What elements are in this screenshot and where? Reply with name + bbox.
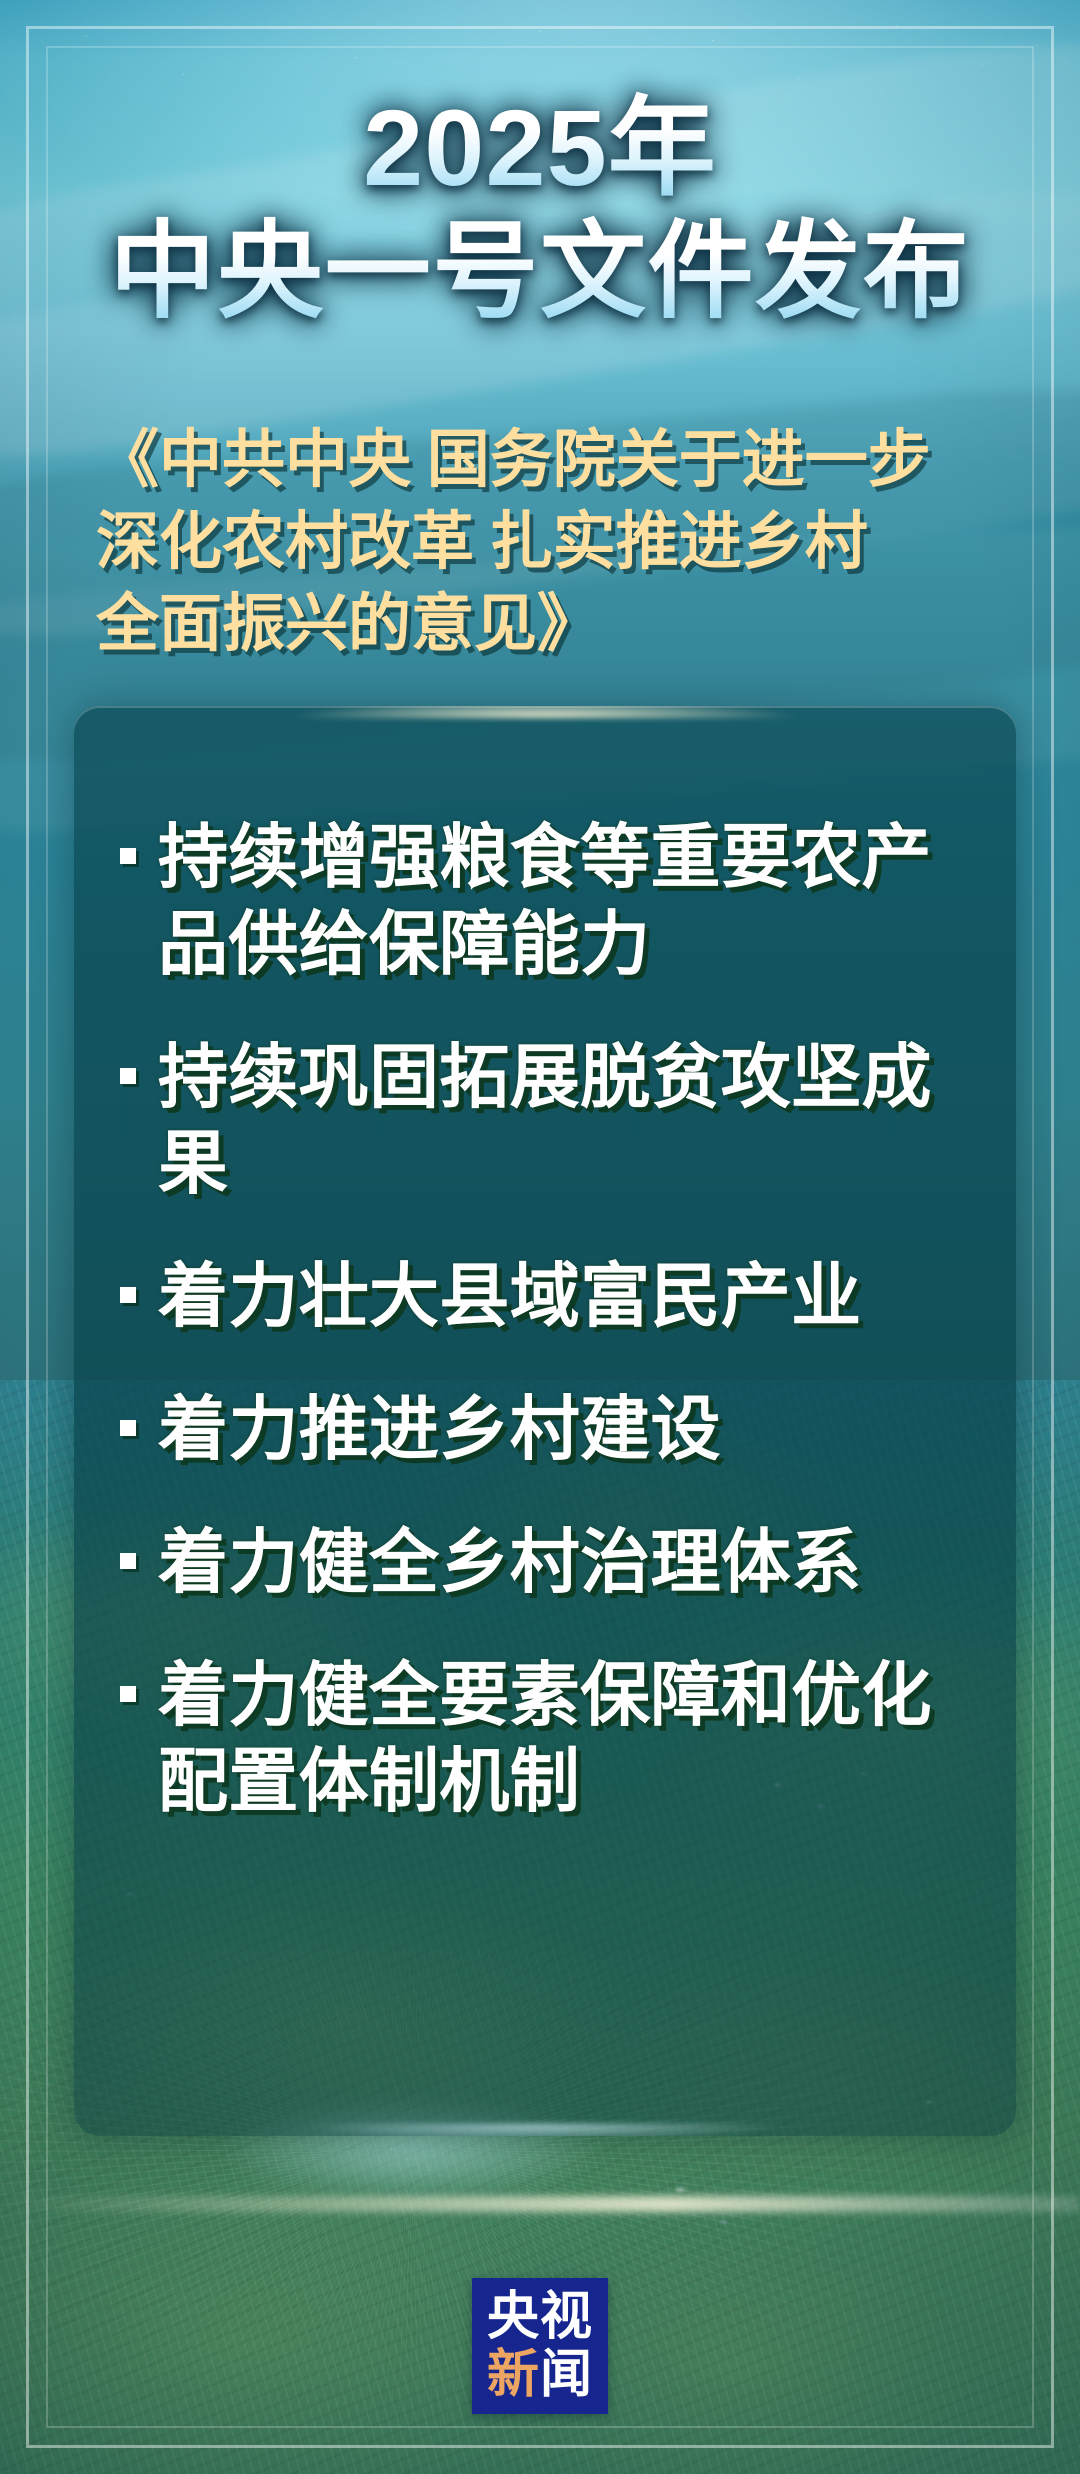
document-full-name-subtitle: 《中共中央 国务院关于进一步 深化农村改革 扎实推进乡村 全面振兴的意见》: [96, 420, 1020, 666]
square-bullet-icon: [120, 1420, 136, 1436]
list-item-label: 着力推进乡村建设: [158, 1386, 980, 1473]
page-title: 2025年 中央一号文件发布: [0, 88, 1080, 332]
logo-line-news: 新 闻: [487, 2349, 593, 2401]
title-line-year: 2025年: [0, 88, 1080, 209]
key-points-card: 持续增强粮食等重要农产品供给保障能力 持续巩固拓展脱贫攻坚成果 着力壮大县域富民…: [74, 706, 1016, 2136]
list-item-label: 着力壮大县域富民产业: [158, 1253, 980, 1340]
list-item: 持续增强粮食等重要农产品供给保障能力: [120, 814, 980, 988]
square-bullet-icon: [120, 848, 136, 864]
list-item: 着力壮大县域富民产业: [120, 1253, 980, 1340]
logo-char-wen: 闻: [540, 2349, 593, 2401]
list-item-label: 着力健全要素保障和优化配置体制机制: [158, 1652, 980, 1826]
list-item: 持续巩固拓展脱贫攻坚成果: [120, 1034, 980, 1208]
list-item-label: 持续增强粮食等重要农产品供给保障能力: [158, 814, 980, 988]
poster-root: 2025年 中央一号文件发布 《中共中央 国务院关于进一步 深化农村改革 扎实推…: [0, 0, 1080, 2474]
subtitle-line-3: 全面振兴的意见》: [96, 584, 1020, 666]
list-item-label: 着力健全乡村治理体系: [158, 1519, 980, 1606]
list-item-label: 持续巩固拓展脱贫攻坚成果: [158, 1034, 980, 1208]
square-bullet-icon: [120, 1287, 136, 1303]
key-points-list: 持续增强粮食等重要农产品供给保障能力 持续巩固拓展脱贫攻坚成果 着力壮大县域富民…: [74, 706, 1016, 2136]
square-bullet-icon: [120, 1686, 136, 1702]
square-bullet-icon: [120, 1068, 136, 1084]
logo-line-cctv: 央视: [487, 2291, 593, 2343]
subtitle-line-1: 《中共中央 国务院关于进一步: [96, 420, 1020, 502]
square-bullet-icon: [120, 1553, 136, 1569]
list-item: 着力推进乡村建设: [120, 1386, 980, 1473]
subtitle-line-2: 深化农村改革 扎实推进乡村: [96, 502, 1020, 584]
cctv-news-logo: 央视 新 闻: [472, 2278, 608, 2414]
list-item: 着力健全乡村治理体系: [120, 1519, 980, 1606]
logo-char-xin: 新: [487, 2349, 540, 2401]
list-item: 着力健全要素保障和优化配置体制机制: [120, 1652, 980, 1826]
title-line-document: 中央一号文件发布: [0, 213, 1080, 332]
poster-content: 2025年 中央一号文件发布 《中共中央 国务院关于进一步 深化农村改革 扎实推…: [0, 0, 1080, 2474]
